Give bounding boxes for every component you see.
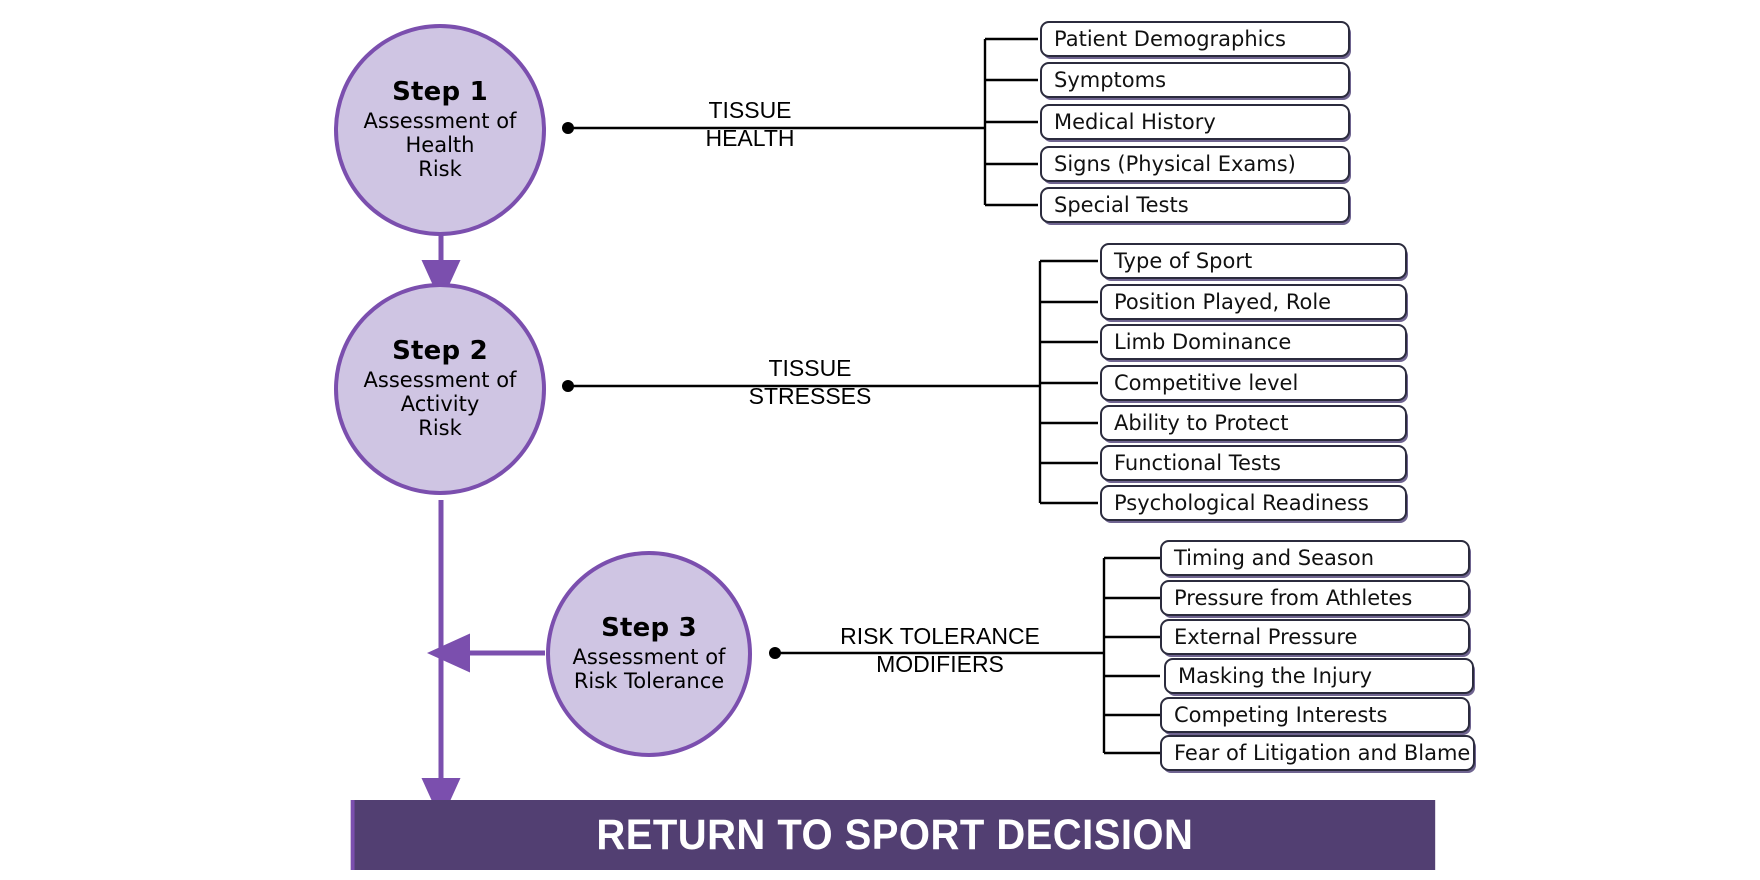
step-1-subtitle-line-3: Risk [418,158,462,182]
leaf-box[interactable]: Fear of Litigation and Blame [1160,735,1475,771]
return-to-sport-decision-banner[interactable]: RETURN TO SPORT DECISION [351,800,1435,870]
leaf-label: Fear of Litigation and Blame [1174,741,1470,765]
leaf-label: Signs (Physical Exams) [1054,152,1296,176]
leaf-box[interactable]: Competing Interests [1160,697,1470,733]
leaf-label: Position Played, Role [1114,290,1331,314]
step-2-title: Step 2 [392,337,488,367]
leaf-label: External Pressure [1174,625,1357,649]
leaf-box[interactable]: External Pressure [1160,619,1470,655]
diagram-canvas: Step 1 Assessment of Health Risk TISSUE … [0,0,1760,880]
step-3-subtitle-line-1: Assessment of [573,646,726,670]
leaf-label: Type of Sport [1114,249,1252,273]
leaf-label: Ability to Protect [1114,411,1289,435]
leaf-label: Psychological Readiness [1114,491,1369,515]
leaf-box[interactable]: Functional Tests [1100,445,1407,481]
leaf-label: Pressure from Athletes [1174,586,1412,610]
leaf-label: Competing Interests [1174,703,1387,727]
leaf-box[interactable]: Competitive level [1100,365,1407,401]
step-1-subtitle-line-1: Assessment of [364,110,517,134]
step-3-node[interactable]: Step 3 Assessment of Risk Tolerance [546,551,752,757]
connector-label-step-3-line-1: RISK TOLERANCE [810,622,1070,650]
leaf-label: Limb Dominance [1114,330,1291,354]
leaf-box[interactable]: Medical History [1040,104,1350,140]
connector-label-step-3: RISK TOLERANCE MODIFIERS [810,622,1070,678]
leaf-box[interactable]: Special Tests [1040,187,1350,223]
step-2-subtitle-line-2: Activity [401,393,480,417]
step-3-title: Step 3 [601,614,697,644]
leaf-box[interactable]: Symptoms [1040,62,1350,98]
step-3-subtitle-line-2: Risk Tolerance [574,670,724,694]
step-2-subtitle-line-3: Risk [418,417,462,441]
leaf-label: Patient Demographics [1054,27,1286,51]
connector-label-step-2-line-2: STRESSES [700,382,920,410]
leaf-box[interactable]: Position Played, Role [1100,284,1407,320]
connector-lines-layer [0,0,1760,880]
connector-label-step-1-line-1: TISSUE [640,96,860,124]
leaf-box[interactable]: Type of Sport [1100,243,1407,279]
step-1-node[interactable]: Step 1 Assessment of Health Risk [334,24,546,236]
leaf-box[interactable]: Psychological Readiness [1100,485,1407,521]
leaf-label: Timing and Season [1174,546,1374,570]
leaf-label: Medical History [1054,110,1216,134]
connector-label-step-1: TISSUE HEALTH [640,96,860,152]
step-2-subtitle-line-1: Assessment of [364,369,517,393]
leaf-label: Functional Tests [1114,451,1281,475]
connector-label-step-2: TISSUE STRESSES [700,354,920,410]
step-2-node[interactable]: Step 2 Assessment of Activity Risk [334,283,546,495]
leaf-box[interactable]: Masking the Injury [1164,658,1474,694]
leaf-box[interactable]: Signs (Physical Exams) [1040,146,1350,182]
leaf-box[interactable]: Patient Demographics [1040,21,1350,57]
leaf-box[interactable]: Pressure from Athletes [1160,580,1470,616]
step-1-subtitle-line-2: Health [406,134,475,158]
leaf-box[interactable]: Timing and Season [1160,540,1470,576]
leaf-label: Symptoms [1054,68,1166,92]
step-1-title: Step 1 [392,78,488,108]
banner-label: RETURN TO SPORT DECISION [596,811,1193,860]
connector-label-step-2-line-1: TISSUE [700,354,920,382]
leaf-box[interactable]: Ability to Protect [1100,405,1407,441]
leaf-label: Masking the Injury [1178,664,1372,688]
connector-label-step-3-line-2: MODIFIERS [810,650,1070,678]
leaf-label: Special Tests [1054,193,1189,217]
leaf-label: Competitive level [1114,371,1298,395]
leaf-box[interactable]: Limb Dominance [1100,324,1407,360]
connector-label-step-1-line-2: HEALTH [640,124,860,152]
